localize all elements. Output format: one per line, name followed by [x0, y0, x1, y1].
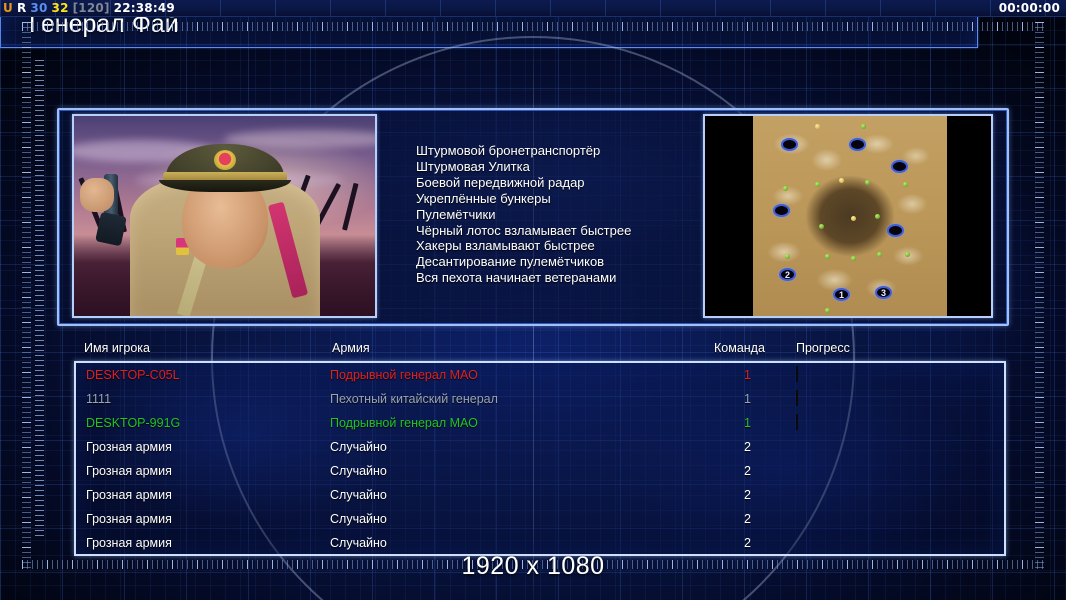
general-hand	[80, 178, 114, 212]
map-resource-dot	[839, 178, 844, 183]
player-army: Случайно	[330, 488, 387, 502]
map-start-position	[781, 138, 798, 151]
player-name: Грозная армия	[86, 464, 172, 478]
player-army: Случайно	[330, 440, 387, 454]
hud-left-group: UR 30 32[120] 22:38:49	[0, 1, 175, 15]
map-start-position-2: 2	[779, 268, 796, 281]
player-name: Грозная армия	[86, 512, 172, 526]
hud-clock: 22:38:49	[114, 1, 175, 15]
map-start-position-3: 3	[875, 286, 892, 299]
column-header-army: Армия	[332, 341, 370, 355]
ability-line: Укреплённые бункеры	[416, 191, 696, 207]
player-army: Подрывной генерал МАО	[330, 416, 478, 430]
player-team: 2	[744, 488, 751, 502]
player-army: Случайно	[330, 512, 387, 526]
table-row[interactable]: Грозная армия Случайно 2	[76, 483, 1004, 507]
map-start-position	[891, 160, 908, 173]
map-resource-dot	[903, 182, 908, 187]
sash	[267, 202, 307, 299]
map-start-position	[887, 224, 904, 237]
player-team: 2	[744, 440, 751, 454]
player-team: 1	[744, 416, 751, 430]
hud-value-bracket: [120]	[73, 1, 110, 15]
player-team: 1	[744, 368, 751, 382]
player-table: DESKTOP-C05L Подрывной генерал МАО 1 111…	[74, 361, 1006, 556]
ruler-left	[22, 22, 31, 570]
player-army: Случайно	[330, 464, 387, 478]
map-resource-dot	[819, 224, 824, 229]
ability-line: Боевой передвижной радар	[416, 175, 696, 191]
map-resource-dot	[905, 252, 910, 257]
ability-line: Хакеры взламывают быстрее	[416, 238, 696, 254]
ruler-right	[1035, 22, 1044, 570]
hud-value-blue: 30	[30, 1, 47, 15]
table-row[interactable]: Грозная армия Случайно 2	[76, 459, 1004, 483]
player-army: Пехотный китайский генерал	[330, 392, 498, 406]
ability-line: Штурмовой бронетранспортёр	[416, 143, 696, 159]
ruler-left-inner	[35, 60, 44, 540]
column-header-team: Команда	[714, 341, 765, 355]
top-hud-bar: UR 30 32[120] 22:38:49 00:00:00	[0, 0, 1066, 17]
progress-bar	[796, 390, 798, 406]
player-team: 2	[744, 464, 751, 478]
player-team: 1	[744, 392, 751, 406]
ability-line: Пулемётчики	[416, 207, 696, 223]
map-start-position-1: 1	[833, 288, 850, 301]
player-team: 2	[744, 536, 751, 550]
player-name: 1111	[86, 392, 111, 406]
table-row[interactable]: DESKTOP-C05L Подрывной генерал МАО 1	[76, 363, 1004, 387]
column-header-progress: Прогресс	[796, 341, 850, 355]
player-army: Подрывной генерал МАО	[330, 368, 478, 382]
map-resource-dot	[815, 124, 820, 129]
hud-prefix-r: R	[17, 1, 26, 15]
table-row[interactable]: 1111 Пехотный китайский генерал 1	[76, 387, 1004, 411]
map-resource-dot	[815, 182, 820, 187]
player-name: Грозная армия	[86, 488, 172, 502]
table-row[interactable]: DESKTOP-991G Подрывной генерал МАО 1	[76, 411, 1004, 435]
player-name: Грозная армия	[86, 440, 172, 454]
map-terrain: 2 1 3	[753, 116, 947, 316]
cap-badge-icon	[214, 150, 236, 170]
game-lobby-screen: UR 30 32[120] 22:38:49 00:00:00 Генерал …	[0, 0, 1066, 600]
player-name: Грозная армия	[86, 536, 172, 550]
ability-line: Чёрный лотос взламывает быстрее	[416, 223, 696, 239]
map-resource-dot	[861, 124, 866, 129]
map-resource-dot	[785, 254, 790, 259]
general-abilities-list: Штурмовой бронетранспортёр Штурмовая Ули…	[416, 143, 696, 286]
ability-line: Вся пехота начинает ветеранами	[416, 270, 696, 286]
player-progress	[796, 391, 798, 405]
hud-right-group: 00:00:00	[999, 1, 1066, 15]
table-row[interactable]: Грозная армия Случайно 2	[76, 435, 1004, 459]
ability-line: Штурмовая Улитка	[416, 159, 696, 175]
map-resource-dot	[851, 216, 856, 221]
general-portrait	[72, 114, 377, 318]
map-resource-dot	[825, 308, 830, 313]
hud-prefix-u: U	[3, 1, 13, 15]
map-resource-dot	[877, 252, 882, 257]
map-preview[interactable]: 2 1 3	[703, 114, 993, 318]
map-resource-dot	[865, 180, 870, 185]
map-resource-dot	[851, 256, 856, 261]
pistol-grip	[95, 212, 127, 247]
player-team: 2	[744, 512, 751, 526]
player-progress	[796, 367, 798, 381]
map-resource-dot	[783, 186, 788, 191]
table-row[interactable]: Грозная армия Случайно 2	[76, 507, 1004, 531]
player-name: DESKTOP-991G	[86, 416, 180, 430]
column-header-player: Имя игрока	[84, 341, 150, 355]
progress-bar	[796, 366, 798, 382]
hud-value-yellow: 32	[52, 1, 69, 15]
map-start-position	[773, 204, 790, 217]
player-army: Случайно	[330, 536, 387, 550]
player-progress	[796, 415, 798, 429]
player-name: DESKTOP-C05L	[86, 368, 180, 382]
map-resource-dot	[875, 214, 880, 219]
map-start-position	[849, 138, 866, 151]
hud-timer: 00:00:00	[999, 1, 1060, 15]
resolution-overlay: 1920 x 1080	[0, 552, 1066, 581]
map-resource-dot	[825, 254, 830, 259]
progress-bar	[796, 414, 798, 430]
player-table-header: Имя игрока Армия Команда Прогресс	[78, 341, 1003, 360]
ability-line: Десантирование пулемётчиков	[416, 254, 696, 270]
